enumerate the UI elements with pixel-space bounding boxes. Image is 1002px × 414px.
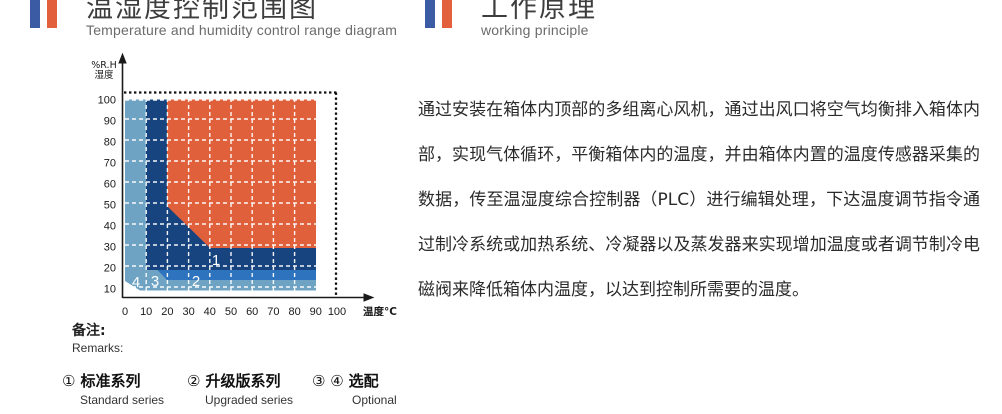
chart-region-label-3: 3 — [151, 273, 159, 290]
legend-label-3-en: Optional — [352, 393, 432, 407]
legend-marker-1-icon: ① — [62, 372, 75, 390]
chart-y-tick-labels: 100 90 80 70 60 50 40 30 20 10 — [98, 95, 116, 296]
y-tick-70: 70 — [104, 158, 116, 170]
legend-marker-2-icon: ② — [187, 372, 200, 390]
legend-label-2-en: Upgraded series — [205, 393, 312, 407]
x-tick-0: 0 — [122, 306, 128, 316]
chart-region-label-2: 2 — [192, 273, 200, 290]
chart-regions — [125, 100, 316, 291]
remarks-title-en: Remarks: — [72, 341, 452, 355]
legend-label-1-en: Standard series — [80, 393, 187, 407]
accent-bar-blue-icon — [425, 0, 435, 28]
remarks-title-cn: 备注: — [72, 320, 452, 340]
heading-right-title-en: working principle — [481, 22, 589, 38]
y-tick-50: 50 — [104, 200, 116, 212]
x-tick-60: 60 — [246, 306, 258, 316]
accent-bar-orange-icon — [442, 0, 452, 28]
chart-region-1 — [167, 100, 316, 249]
chart-y-axis-title: %R.H 湿度 — [91, 60, 116, 81]
legend-item-standard-series: ① 标准系列 Standard series — [62, 370, 187, 407]
working-principle-paragraph: 通过安装在箱体内顶部的多组离心风机，通过出风口将空气均衡排入箱体内部，实现气体循… — [418, 88, 980, 313]
y-tick-30: 30 — [104, 242, 116, 254]
page-root: 温湿度控制范围图 Temperature and humidity contro… — [0, 0, 1002, 414]
x-tick-100: 100 — [328, 306, 346, 316]
chart-region-label-1: 1 — [212, 252, 220, 269]
heading-accent-bars — [30, 0, 57, 28]
x-tick-50: 50 — [225, 306, 237, 316]
remarks-block: 备注: Remarks: — [72, 320, 452, 355]
legend-marker-34-icon: ③ ④ — [312, 372, 344, 390]
y-tick-10: 10 — [104, 284, 116, 296]
x-tick-20: 20 — [161, 306, 173, 316]
x-tick-30: 30 — [182, 306, 194, 316]
legend-label-2-cn: 升级版系列 — [205, 370, 280, 391]
x-tick-80: 80 — [288, 306, 300, 316]
y-tick-60: 60 — [104, 179, 116, 191]
heading-accent-bars — [425, 0, 452, 28]
x-axis-title: 温度°C — [363, 305, 397, 316]
chart-svg: 100 90 80 70 60 50 40 30 20 10 %R.H 湿度 0… — [0, 46, 420, 316]
chart-x-tick-labels: 0 10 20 30 40 50 60 70 80 90 100 — [122, 306, 346, 316]
y-axis-title-line2: 湿度 — [94, 69, 114, 81]
legend-label-1-cn: 标准系列 — [80, 370, 140, 391]
chart-legend: ① 标准系列 Standard series ② 升级版系列 Upgraded … — [62, 370, 462, 407]
x-tick-40: 40 — [204, 306, 216, 316]
y-tick-90: 90 — [104, 116, 116, 128]
y-tick-40: 40 — [104, 221, 116, 233]
y-tick-20: 20 — [104, 263, 116, 275]
x-tick-70: 70 — [267, 306, 279, 316]
x-tick-10: 10 — [140, 306, 152, 316]
legend-label-3-cn: 选配 — [349, 370, 379, 391]
temperature-humidity-chart: 100 90 80 70 60 50 40 30 20 10 %R.H 湿度 0… — [0, 46, 420, 316]
chart-region-label-4: 4 — [132, 274, 140, 291]
legend-item-upgraded-series: ② 升级版系列 Upgraded series — [187, 370, 312, 407]
legend-item-optional: ③ ④ 选配 Optional — [312, 370, 432, 407]
y-tick-80: 80 — [104, 137, 116, 149]
accent-bar-orange-icon — [47, 0, 57, 28]
heading-left-title-en: Temperature and humidity control range d… — [86, 22, 397, 38]
accent-bar-blue-icon — [30, 0, 40, 28]
y-tick-100: 100 — [98, 95, 116, 107]
x-tick-90: 90 — [310, 306, 322, 316]
